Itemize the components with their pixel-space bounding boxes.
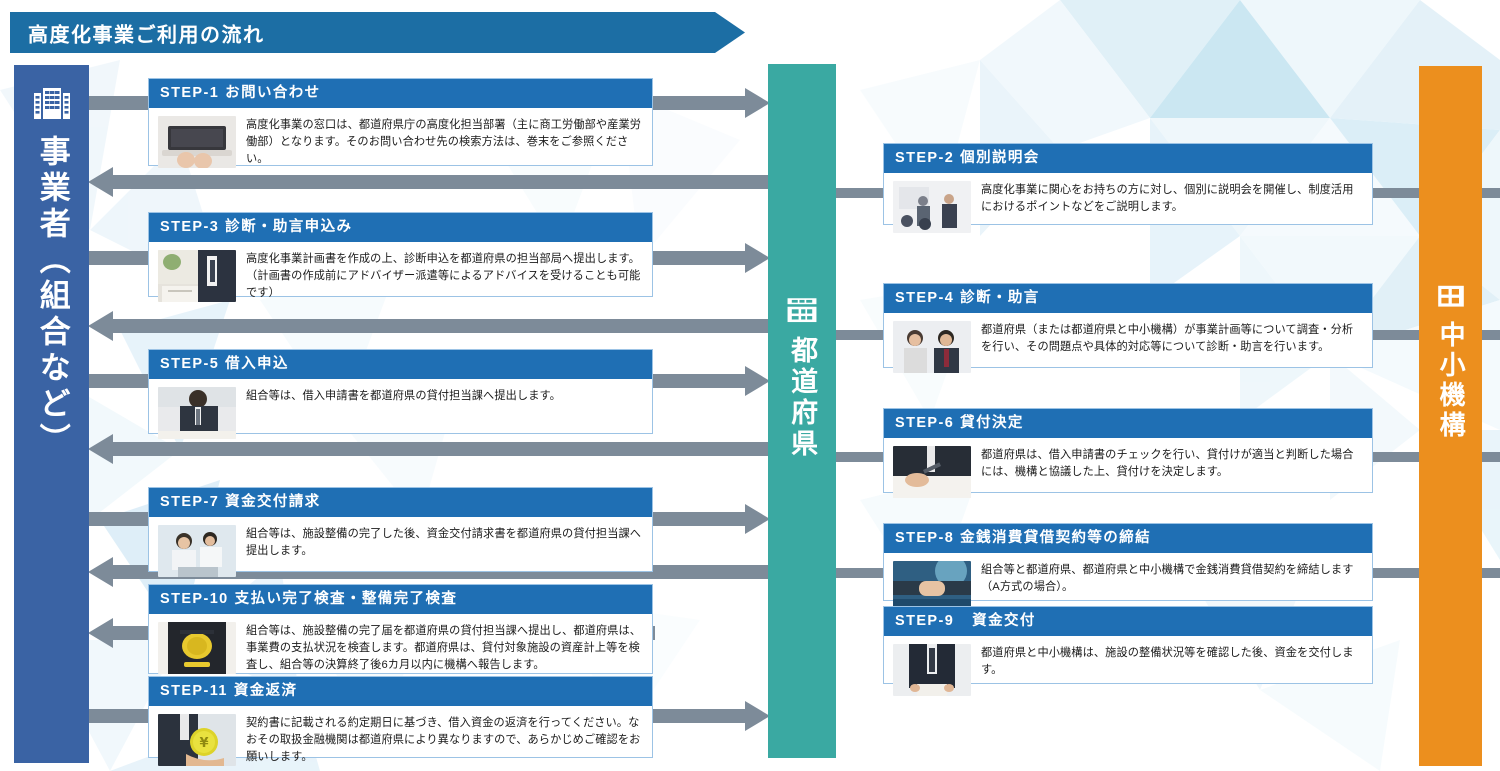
step-card-8-text: 組合等と都道府県、都道府県と中小機構で金銭消費貸借契約を締結します（A方式の場合… (981, 561, 1362, 597)
step-card-6-header: STEP-6貸付決定 (884, 409, 1372, 438)
organization-building-icon (1435, 281, 1467, 313)
step-card-5-number: STEP-5 (160, 356, 219, 372)
step-card-11-title: 資金返済 (234, 683, 298, 699)
step-card-10[interactable]: STEP-10支払い完了検査・整備完了検査 組合等は、施設整備の完了届を都道府県… (148, 584, 653, 674)
actor-label-prefecture: 都道府県 (788, 336, 816, 460)
step-card-8-header: STEP-8金銭消費貸借契約等の締結 (884, 524, 1372, 553)
step-card-1-body: 高度化事業の窓口は、都道府県庁の高度化担当部署（主に商工労働部や産業労働部）とな… (149, 108, 652, 177)
step-card-2-text: 高度化事業に関心をお持ちの方に対し、個別に説明会を開催し、制度活用におけるポイン… (981, 181, 1362, 217)
step-card-8-number: STEP-8 (895, 530, 954, 546)
step-card-11-number: STEP-11 (160, 683, 228, 699)
yen-coin-hand-photo: ¥ (158, 714, 236, 766)
actor-column-prefecture: 都道府県 (768, 64, 836, 758)
step-card-3-title: 診断・助言申込み (225, 219, 352, 235)
lab-coat-laptop-photo (158, 525, 236, 577)
step-card-11[interactable]: STEP-11資金返済 ¥ 契約書に記載される約定期日に基づき、借入資金の返済を… (148, 676, 653, 758)
step-card-9[interactable]: STEP-9資金交付 都道府県と中小機構は、施設の整備状況等を確認した後、資金を… (883, 606, 1373, 684)
step-card-1-title: お問い合わせ (225, 85, 320, 101)
step-card-8-title: 金銭消費貸借契約等の締結 (960, 530, 1151, 546)
step-card-5-header: STEP-5借入申込 (149, 350, 652, 379)
step-card-6-text: 都道府県は、借入申請書のチェックを行い、貸付けが適当と判断した場合には、機構と協… (981, 446, 1362, 482)
step-card-7-number: STEP-7 (160, 494, 219, 510)
svg-text:¥: ¥ (199, 736, 208, 751)
handshake-photo (893, 561, 971, 613)
contract-signing-photo (893, 446, 971, 498)
step-card-10-text: 組合等は、施設整備の完了届を都道府県の貸付担当課へ提出し、都道府県は、事業費の支… (246, 622, 642, 675)
step-card-10-title: 支払い完了検査・整備完了検査 (235, 591, 458, 607)
meeting-presentation-photo (893, 181, 971, 233)
step-card-6-body: 都道府県は、借入申請書のチェックを行い、貸付けが適当と判断した場合には、機構と協… (884, 438, 1372, 506)
step-card-5-text: 組合等は、借入申請書を都道府県の貸付担当課へ提出します。 (246, 387, 561, 405)
step-card-7-body: 組合等は、施設整備の完了した後、資金交付請求書を都道府県の貸付担当課へ提出します… (149, 517, 652, 585)
step-card-9-text: 都道府県と中小機構は、施設の整備状況等を確認した後、資金を交付します。 (981, 644, 1362, 680)
step-card-4-text: 都道府県（または都道府県と中小機構）が事業計画等について調査・分析を行い、その問… (981, 321, 1362, 357)
laptop-typing-photo (158, 116, 236, 168)
step-card-6-number: STEP-6 (895, 415, 954, 431)
arrow-prefecture-to-business-4 (88, 311, 770, 341)
step-card-7-title: 資金交付請求 (225, 494, 320, 510)
step-card-2-body: 高度化事業に関心をお持ちの方に対し、個別に説明会を開催し、制度活用におけるポイン… (884, 173, 1372, 241)
step-card-7-text: 組合等は、施設整備の完了した後、資金交付請求書を都道府県の貸付担当課へ提出します… (246, 525, 642, 561)
step-card-2-title: 個別説明会 (960, 150, 1040, 166)
consultation-pair-photo (893, 321, 971, 373)
step-card-6-title: 貸付決定 (960, 415, 1024, 431)
page-title: 高度化事業ご利用の流れ (28, 18, 265, 47)
step-card-1-text: 高度化事業の窓口は、都道府県庁の高度化担当部署（主に商工労働部や産業労働部）とな… (246, 116, 642, 169)
step-card-5-body: 組合等は、借入申請書を都道府県の貸付担当課へ提出します。 (149, 379, 652, 447)
suit-holding-photo (893, 644, 971, 696)
step-card-2-header: STEP-2個別説明会 (884, 144, 1372, 173)
step-card-4[interactable]: STEP-4診断・助言 都道府県（または都道府県と中小機構）が事業計画等について… (883, 283, 1373, 368)
step-card-8[interactable]: STEP-8金銭消費貸借契約等の締結 組合等と都道府県、都道府県と中小機構で金銭… (883, 523, 1373, 601)
step-card-3[interactable]: STEP-3診断・助言申込み 高度化事業計画書を作成の上、診断申込を都道府県の担… (148, 212, 653, 297)
step-card-10-header: STEP-10支払い完了検査・整備完了検査 (149, 585, 652, 614)
step-card-11-header: STEP-11資金返済 (149, 677, 652, 706)
step-card-9-number: STEP-9 (895, 613, 954, 629)
step-card-11-text: 契約書に記載される約定期日に基づき、借入資金の返済を行ってください。なおその取扱… (246, 714, 642, 767)
step-card-6[interactable]: STEP-6貸付決定 都道府県は、借入申請書のチェックを行い、貸付けが適当と判断… (883, 408, 1373, 493)
step-card-3-body: 高度化事業計画書を作成の上、診断申込を都道府県の担当部局へ提出します。（計画書の… (149, 242, 652, 311)
step-card-7-header: STEP-7資金交付請求 (149, 488, 652, 517)
step-card-3-header: STEP-3診断・助言申込み (149, 213, 652, 242)
writing-document-photo (158, 250, 236, 302)
step-card-4-number: STEP-4 (895, 290, 954, 306)
actor-column-business: 事業者（組合など） (14, 65, 89, 763)
building-icon (32, 85, 72, 125)
step-card-4-body: 都道府県（または都道府県と中小機構）が事業計画等について調査・分析を行い、その問… (884, 313, 1372, 381)
step-card-5-title: 借入申込 (225, 356, 289, 372)
step-card-9-body: 都道府県と中小機構は、施設の整備状況等を確認した後、資金を交付します。 (884, 636, 1372, 704)
step-card-11-body: ¥ 契約書に記載される約定期日に基づき、借入資金の返済を行ってください。なおその… (149, 706, 652, 771)
actor-column-smrj: 中小機構 (1419, 66, 1482, 766)
actor-label-smrj: 中小機構 (1437, 321, 1464, 441)
step-card-7[interactable]: STEP-7資金交付請求 組合等は、施設整備の完了した後、資金交付請求書を都道府… (148, 487, 653, 572)
flow-diagram-page: .arw { fill: #7d8b99; } (0, 0, 1500, 771)
step-card-1[interactable]: STEP-1お問い合わせ 高度化事業の窓口は、都道府県庁の高度化担当部署（主に商… (148, 78, 653, 166)
step-card-2[interactable]: STEP-2個別説明会 高度化事業に関心をお持ちの方に対し、個別に説明会を開催し… (883, 143, 1373, 225)
step-card-1-number: STEP-1 (160, 85, 219, 101)
actor-label-business: 事業者（組合など） (35, 135, 68, 459)
step-card-3-number: STEP-3 (160, 219, 219, 235)
step-card-9-title: 資金交付 (972, 613, 1036, 629)
businessman-signing-photo (158, 387, 236, 439)
inspection-stamp-photo (158, 622, 236, 674)
step-card-10-number: STEP-10 (160, 591, 229, 607)
step-card-9-header: STEP-9資金交付 (884, 607, 1372, 636)
header-banner: 高度化事業ご利用の流れ (10, 12, 745, 53)
government-building-icon (785, 294, 819, 328)
step-card-2-number: STEP-2 (895, 150, 954, 166)
step-card-1-header: STEP-1お問い合わせ (149, 79, 652, 108)
step-card-3-text: 高度化事業計画書を作成の上、診断申込を都道府県の担当部局へ提出します。（計画書の… (246, 250, 642, 303)
step-card-5[interactable]: STEP-5借入申込 組合等は、借入申請書を都道府県の貸付担当課へ提出します。 (148, 349, 653, 434)
step-card-4-title: 診断・助言 (960, 290, 1040, 306)
step-card-10-body: 組合等は、施設整備の完了届を都道府県の貸付担当課へ提出し、都道府県は、事業費の支… (149, 614, 652, 683)
step-card-4-header: STEP-4診断・助言 (884, 284, 1372, 313)
